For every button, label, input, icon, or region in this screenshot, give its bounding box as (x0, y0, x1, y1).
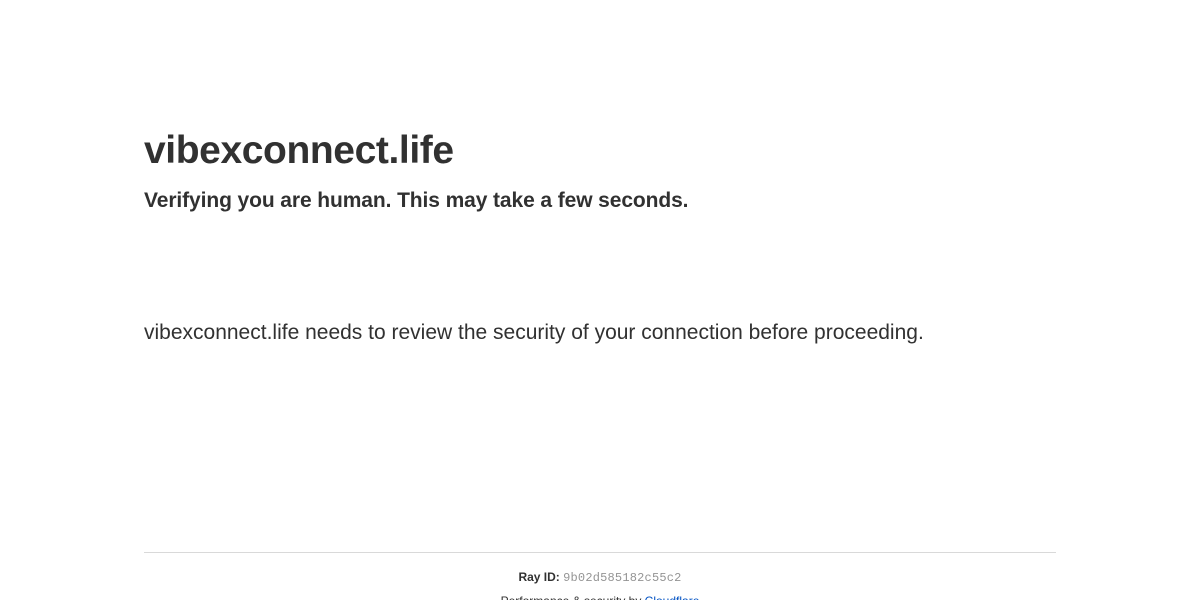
ray-id-row: Ray ID: 9b02d585182c55c2 (144, 553, 1056, 586)
ray-id-label: Ray ID: (518, 570, 559, 584)
challenge-description: vibexconnect.life needs to review the se… (144, 309, 944, 351)
page-footer: Ray ID: 9b02d585182c55c2 Performance & s… (144, 552, 1056, 600)
challenge-widget-container[interactable] (144, 241, 1056, 309)
attribution-prefix: Performance & security by (501, 594, 645, 600)
page-title: vibexconnect.life (144, 128, 1056, 174)
attribution-row: Performance & security by Cloudflare (144, 586, 1056, 600)
challenge-page: vibexconnect.life Verifying you are huma… (0, 0, 1200, 600)
verification-status-text: Verifying you are human. This may take a… (144, 174, 1056, 215)
ray-id-value: 9b02d585182c55c2 (563, 571, 681, 585)
header-block: vibexconnect.life Verifying you are huma… (144, 0, 1056, 215)
cloudflare-link[interactable]: Cloudflare (645, 594, 700, 600)
main-content: vibexconnect.life Verifying you are huma… (144, 0, 1056, 351)
turnstile-widget-placeholder[interactable] (144, 241, 444, 306)
